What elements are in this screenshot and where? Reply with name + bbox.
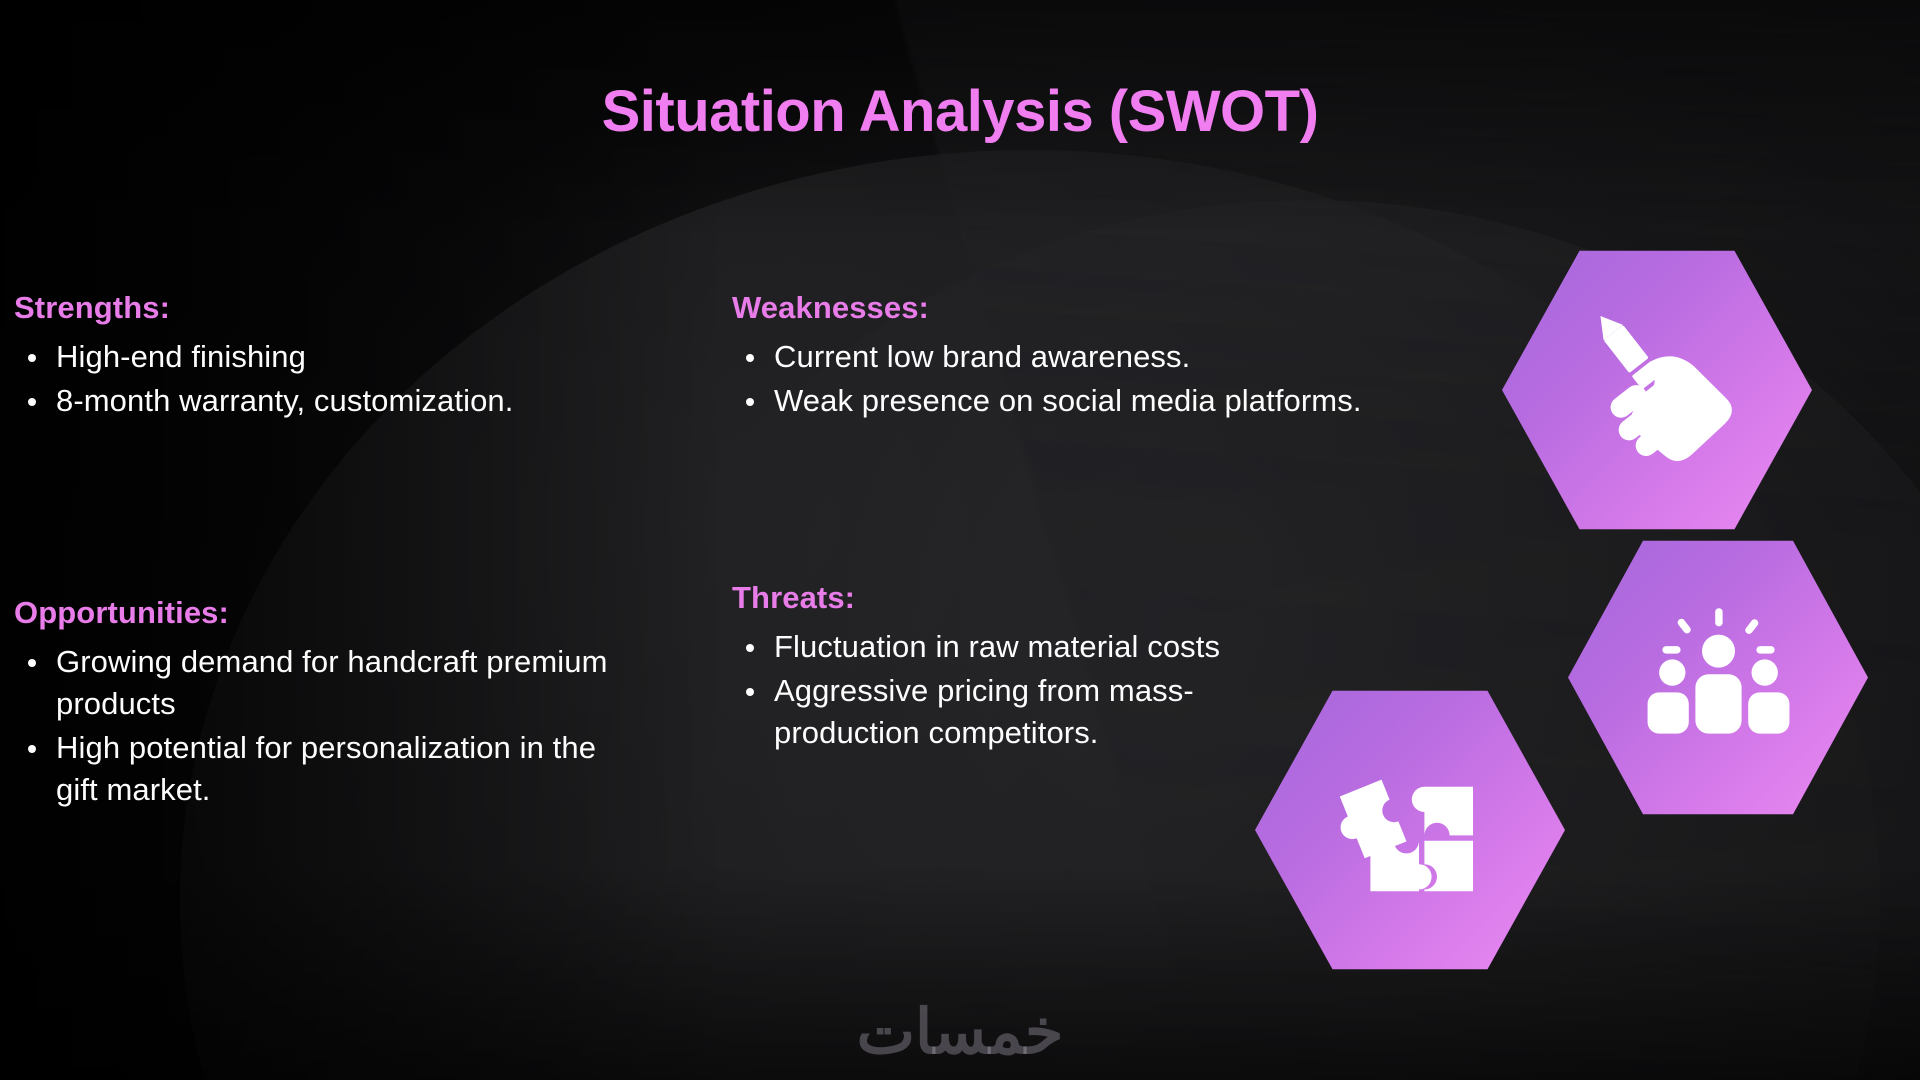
threats-heading: Threats: [732, 580, 1312, 616]
team-idea-glyph [1636, 595, 1801, 760]
opportunities-heading: Opportunities: [14, 595, 634, 631]
hand-holding-pencil-glyph [1562, 295, 1752, 485]
swot-slide: Situation Analysis (SWOT) Strengths: Hig… [0, 0, 1920, 1080]
list-item: High potential for personalization in th… [14, 727, 634, 811]
list-item: Growing demand for handcraft premium pro… [14, 641, 634, 725]
list-item: Aggressive pricing from mass-production … [732, 670, 1312, 754]
strengths-list: High-end finishing 8-month warranty, cus… [14, 336, 534, 422]
list-item: Fluctuation in raw material costs [732, 626, 1312, 668]
swot-block-strengths: Strengths: High-end finishing 8-month wa… [14, 290, 534, 424]
list-item: Current low brand awareness. [732, 336, 1372, 378]
weaknesses-list: Current low brand awareness. Weak presen… [732, 336, 1372, 422]
background-vignette [0, 0, 1920, 1080]
puzzle-pieces-glyph [1320, 740, 1500, 920]
strengths-heading: Strengths: [14, 290, 534, 326]
threats-list: Fluctuation in raw material costs Aggres… [732, 626, 1312, 754]
swot-block-threats: Threats: Fluctuation in raw material cos… [732, 580, 1312, 756]
swot-block-opportunities: Opportunities: Growing demand for handcr… [14, 595, 634, 814]
list-item: High-end finishing [14, 336, 534, 378]
list-item: Weak presence on social media platforms. [732, 380, 1372, 422]
swot-block-weaknesses: Weaknesses: Current low brand awareness.… [732, 290, 1372, 424]
list-item: 8-month warranty, customization. [14, 380, 534, 422]
page-title: Situation Analysis (SWOT) [0, 78, 1920, 145]
watermark: خمسات [0, 995, 1920, 1068]
opportunities-list: Growing demand for handcraft premium pro… [14, 641, 634, 812]
weaknesses-heading: Weaknesses: [732, 290, 1372, 326]
